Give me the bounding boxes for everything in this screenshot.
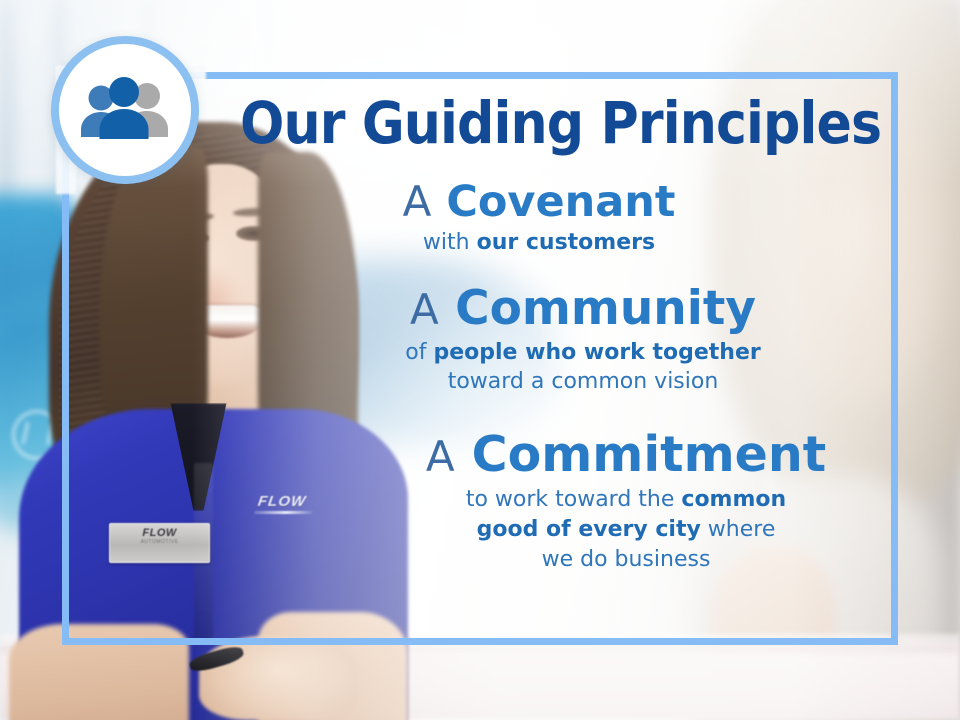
employee-name-badge: FLOW AUTOMOTIVE — [109, 523, 211, 563]
principle-keyword: Covenant — [446, 177, 675, 227]
principle-heading: A Commitment — [352, 428, 900, 483]
employee-arm-left — [9, 624, 189, 720]
principle-covenant: A Covenant with our customers — [200, 178, 900, 257]
principle-heading: A Community — [266, 283, 900, 336]
principle-subline: to work toward the common — [352, 485, 900, 515]
principle-subline: of people who work together — [266, 338, 900, 367]
principles-list: A Covenant with our customers A Communit… — [200, 178, 900, 578]
principle-subline: with our customers — [200, 228, 878, 257]
principle-article: A — [426, 432, 455, 481]
people-group-icon — [77, 77, 173, 143]
employee-badge-subtext: AUTOMOTIVE — [110, 539, 210, 545]
people-badge — [51, 36, 199, 184]
guiding-principles-graphic: FLOW FLOW AUTOMOTIVE — [0, 0, 960, 720]
principle-subtext: with our customers — [200, 228, 878, 257]
principle-article: A — [403, 177, 432, 226]
employee-badge-logo: FLOW — [110, 527, 210, 539]
principle-keyword: Commitment — [472, 426, 827, 483]
principle-subline: we do business — [352, 545, 900, 575]
principle-subline: good of every city where — [352, 515, 900, 545]
principle-keyword: Community — [455, 281, 756, 336]
principle-subline: toward a common vision — [266, 367, 900, 396]
principle-heading: A Covenant — [200, 178, 878, 226]
page-title: Our Guiding Principles — [240, 94, 852, 153]
principle-subtext: of people who work together toward a com… — [266, 338, 900, 396]
principle-commitment: A Commitment to work toward the common g… — [200, 428, 900, 575]
principle-community: A Community of people who work together … — [200, 283, 900, 396]
principle-subtext: to work toward the common good of every … — [352, 485, 900, 575]
principle-article: A — [410, 285, 439, 334]
